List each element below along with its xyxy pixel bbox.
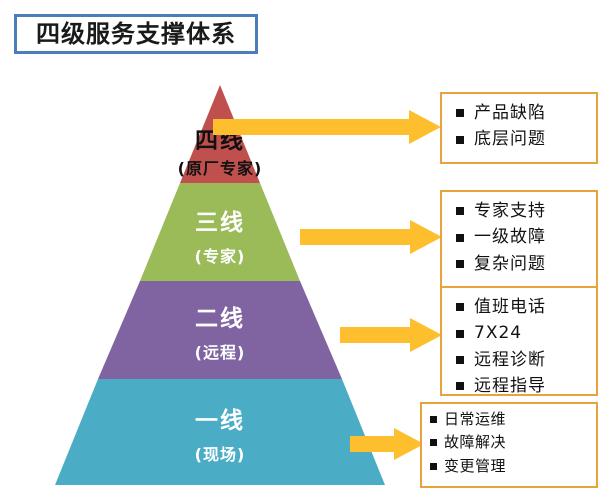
bullet-square-icon — [456, 356, 464, 364]
bullet-square-icon — [456, 234, 464, 242]
bullet-square-icon — [456, 109, 464, 117]
pyramid-tier-2[interactable]: 二线 (远程) — [55, 281, 385, 379]
callout-item: 远程指导 — [456, 373, 586, 399]
arrow-right-tier-1-icon — [350, 428, 424, 460]
bullet-square-icon — [430, 463, 437, 470]
callout-item-label: 复杂问题 — [474, 251, 546, 277]
callout-item: 专家支持 — [456, 198, 586, 224]
callout-item-label: 日常运维 — [444, 408, 506, 431]
callout-item-label: 产品缺陷 — [474, 100, 546, 126]
callout-item-label: 故障解决 — [444, 431, 506, 454]
callout-tier-1: 日常运维 故障解决 变更管理 — [420, 402, 598, 488]
bullet-square-icon — [456, 382, 464, 390]
bullet-square-icon — [456, 303, 464, 311]
tier-2-sub: (远程) — [55, 339, 385, 363]
callout-item: 变更管理 — [430, 455, 590, 478]
bullet-square-icon — [456, 330, 464, 338]
callout-item: 日常运维 — [430, 408, 590, 431]
tier-4-sub: (原厂专家) — [55, 155, 385, 179]
pyramid-tier-1[interactable]: 一线 (现场) — [55, 379, 385, 485]
callout-item-label: 一级故障 — [474, 224, 546, 250]
callout-item: 远程诊断 — [456, 347, 586, 373]
page-title: 四级服务支撑体系 — [22, 19, 250, 49]
tier-1-sub: (现场) — [55, 441, 385, 465]
pyramid-diagram: 四线 (原厂专家) 三线 (专家) 二线 (远程) 一线 (现场) — [55, 85, 385, 495]
bullet-square-icon — [456, 136, 464, 144]
callout-item: 7X24 — [456, 320, 586, 346]
callout-item-label: 底层问题 — [474, 126, 546, 152]
callout-item: 一级故障 — [456, 224, 586, 250]
tier-2-name: 二线 — [55, 299, 385, 333]
arrow-right-tier-4-icon — [213, 110, 441, 144]
callout-item: 复杂问题 — [456, 251, 586, 277]
arrow-right-tier-2-icon — [340, 318, 442, 352]
callout-tier-2: 值班电话 7X24 远程诊断 远程指导 — [440, 286, 598, 396]
tier-1-name: 一线 — [55, 401, 385, 435]
callout-item: 底层问题 — [456, 126, 586, 152]
bullet-square-icon — [456, 260, 464, 268]
callout-item-label: 值班电话 — [474, 294, 546, 320]
bullet-square-icon — [456, 207, 464, 215]
bullet-square-icon — [430, 416, 437, 423]
callout-item-label: 7X24 — [474, 320, 522, 346]
callout-item: 值班电话 — [456, 294, 586, 320]
callout-item-label: 变更管理 — [444, 455, 506, 478]
arrow-right-tier-3-icon — [300, 220, 442, 254]
bullet-square-icon — [430, 439, 437, 446]
callout-tier-3: 专家支持 一级故障 复杂问题 — [440, 190, 598, 290]
callout-item: 产品缺陷 — [456, 100, 586, 126]
callout-item-label: 专家支持 — [474, 198, 546, 224]
callout-item-label: 远程诊断 — [474, 347, 546, 373]
callout-tier-4: 产品缺陷 底层问题 — [440, 92, 598, 164]
callout-item: 故障解决 — [430, 431, 590, 454]
callout-item-label: 远程指导 — [474, 373, 546, 399]
